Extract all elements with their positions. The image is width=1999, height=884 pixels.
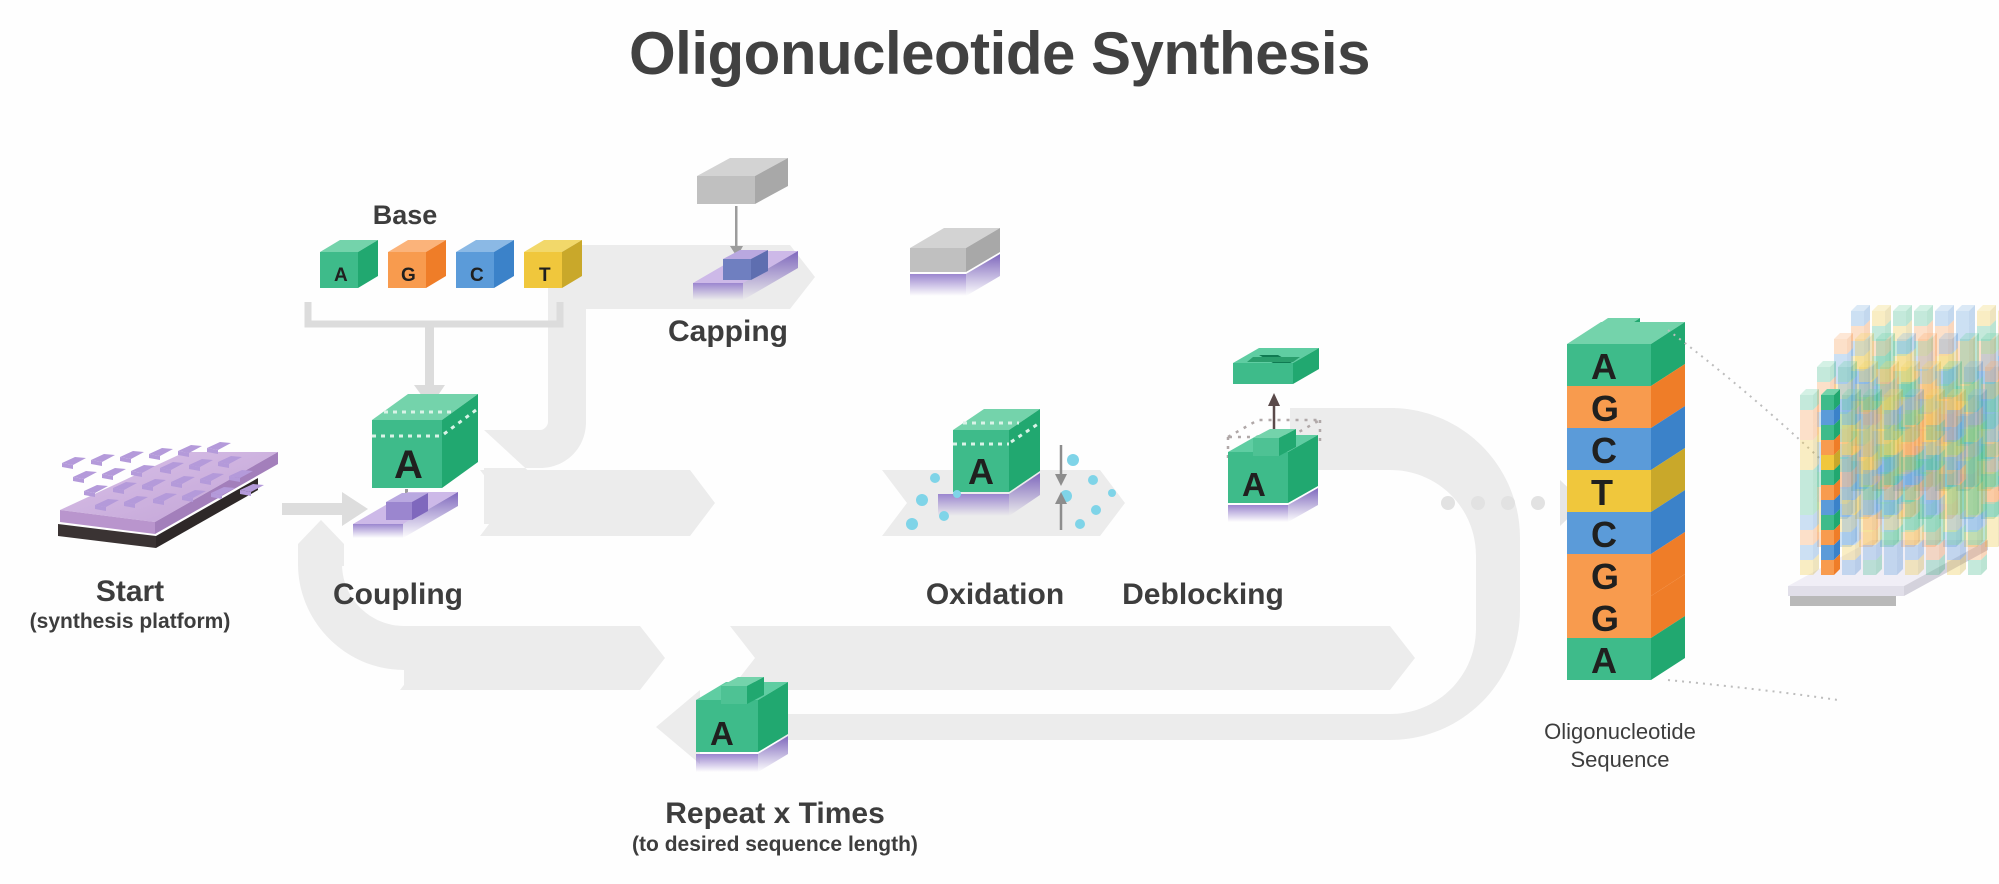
array-column — [1926, 389, 1945, 575]
svg-text:A: A — [1242, 466, 1266, 503]
sequence-label-line1: Oligonucleotide — [1500, 718, 1740, 746]
deblocking-block-A: A — [1228, 429, 1318, 503]
stage-label-repeat: Repeat x Times — [600, 797, 950, 831]
sequence-base-letter: G — [1591, 388, 1619, 429]
array-column — [1800, 389, 1819, 575]
capping-group — [693, 158, 1000, 300]
svg-text:A: A — [394, 443, 423, 487]
sequence-base-letter: A — [1591, 640, 1617, 681]
svg-text:C: C — [470, 265, 484, 286]
array-column — [1884, 389, 1903, 575]
coupling-big-cube-A: A — [372, 394, 478, 488]
svg-text:G: G — [401, 265, 416, 286]
deblocking-lifted-ring — [1233, 348, 1319, 384]
sequence-label-line2: Sequence — [1500, 746, 1740, 774]
array-column — [1947, 389, 1966, 575]
sequence-base-letter: C — [1591, 514, 1617, 555]
coupling-group: A — [353, 394, 478, 538]
deblocking-group: A — [1228, 348, 1320, 522]
svg-text:T: T — [539, 265, 551, 286]
capping-purple-pad — [693, 250, 798, 300]
array-column — [1863, 389, 1882, 575]
stage-label-coupling: Coupling — [268, 578, 528, 612]
microarray-group — [1788, 305, 1999, 606]
start-synthesis-platform — [58, 442, 278, 548]
stage-sublabel-repeat: (to desired sequence length) — [600, 833, 950, 857]
sequence-base-letter: G — [1591, 556, 1619, 597]
base-cubes-group: A G C T — [308, 240, 582, 407]
stage-sublabel-start: (synthesis platform) — [0, 610, 260, 634]
base-cube-T: T — [524, 240, 582, 288]
sequence-base-letter: T — [1591, 472, 1613, 513]
capping-result-block — [910, 228, 1000, 296]
repeat-cube-A: A — [696, 677, 788, 752]
diagram-canvas: A G C T — [0, 0, 1999, 884]
base-cube-A: A — [320, 240, 378, 288]
array-column — [1905, 389, 1924, 575]
array-column — [1842, 389, 1861, 575]
coupling-purple-pad — [353, 492, 458, 538]
base-bracket — [308, 302, 560, 324]
oxidation-sparkles-right — [1060, 454, 1116, 529]
stage-label-capping: Capping — [598, 315, 858, 349]
sequence-base-letter: A — [1591, 346, 1617, 387]
stage-label-deblocking: Deblocking — [1073, 578, 1333, 612]
svg-text:A: A — [334, 265, 348, 286]
sequence-base-letter: G — [1591, 598, 1619, 639]
page-title: Oligonucleotide Synthesis — [0, 20, 1999, 87]
svg-text:A: A — [968, 451, 994, 492]
oxidation-cube-A: A — [953, 409, 1040, 492]
deblocking-up-arrow — [1268, 393, 1280, 430]
capping-gray-cap — [697, 158, 788, 204]
array-column-highlighted — [1821, 389, 1840, 575]
svg-text:A: A — [710, 715, 734, 752]
repeat-group: A — [696, 677, 788, 772]
oxidation-updown-arrows — [1055, 445, 1067, 530]
sequence-base-letter: C — [1591, 430, 1617, 471]
base-cube-C: C — [456, 240, 514, 288]
stage-label-start: Start — [0, 575, 260, 609]
sequence-stack: AGCTCGGA — [1567, 318, 1838, 700]
oxidation-group: A — [906, 409, 1116, 530]
base-label: Base — [255, 200, 555, 230]
base-cube-G: G — [388, 240, 446, 288]
capping-down-arrow — [730, 206, 743, 257]
sequence-label: Oligonucleotide Sequence — [1500, 718, 1740, 773]
array-column — [1968, 389, 1987, 575]
array-column — [1985, 361, 1999, 547]
